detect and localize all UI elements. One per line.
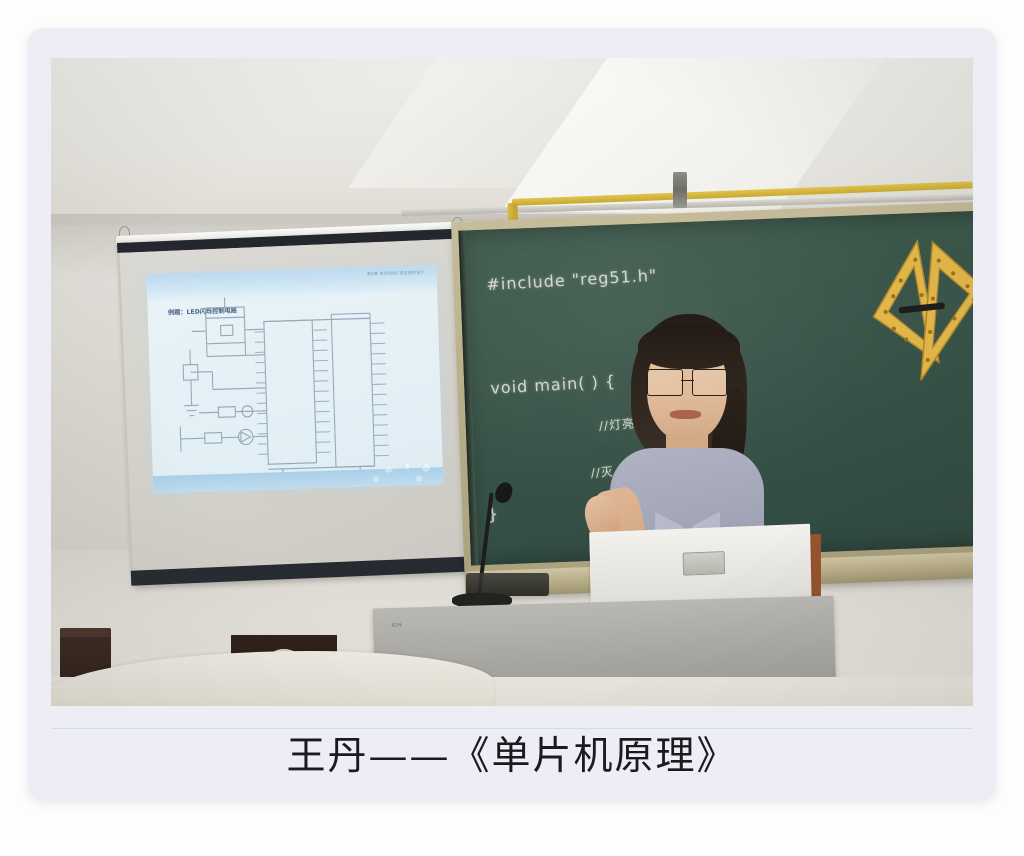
lectern-brand-label: 红叶: [391, 622, 402, 629]
classroom-photo: 第4章 单片机的C语言程序设计 例题：LED闪烁控制电路: [51, 58, 973, 706]
hair-fringe: [638, 323, 740, 370]
waste-bin-lip: [60, 628, 111, 637]
slide-bubble-decor: [403, 462, 410, 469]
chalk-text-include: #include "reg51.h": [486, 265, 658, 294]
triangle-ruler-icon: [860, 231, 973, 390]
glasses-bridge: [681, 380, 694, 382]
glasses-lens-left: [647, 369, 683, 396]
photo-caption: 王丹——《单片机原理》: [28, 733, 996, 782]
screen-surface: 第4章 单片机的C语言程序设计 例题：LED闪烁控制电路: [120, 239, 482, 571]
pipe-valve-icon: [673, 172, 687, 208]
mouth: [670, 410, 702, 419]
projector-screen: 第4章 单片机的C语言程序设计 例题：LED闪烁控制电路: [117, 229, 484, 587]
circuit-diagram: [146, 266, 442, 494]
glasses-lens-right: [692, 369, 728, 396]
caption-divider: [51, 728, 973, 729]
photo-card: 第4章 单片机的C语言程序设计 例题：LED闪烁控制电路: [28, 28, 996, 800]
presentation-slide: 第4章 单片机的C语言程序设计 例题：LED闪烁控制电路: [146, 266, 442, 494]
lectern-handle-icon: [683, 550, 725, 575]
glasses-icon: [647, 369, 728, 394]
chalk-text-main: void main( ) {: [490, 371, 617, 397]
